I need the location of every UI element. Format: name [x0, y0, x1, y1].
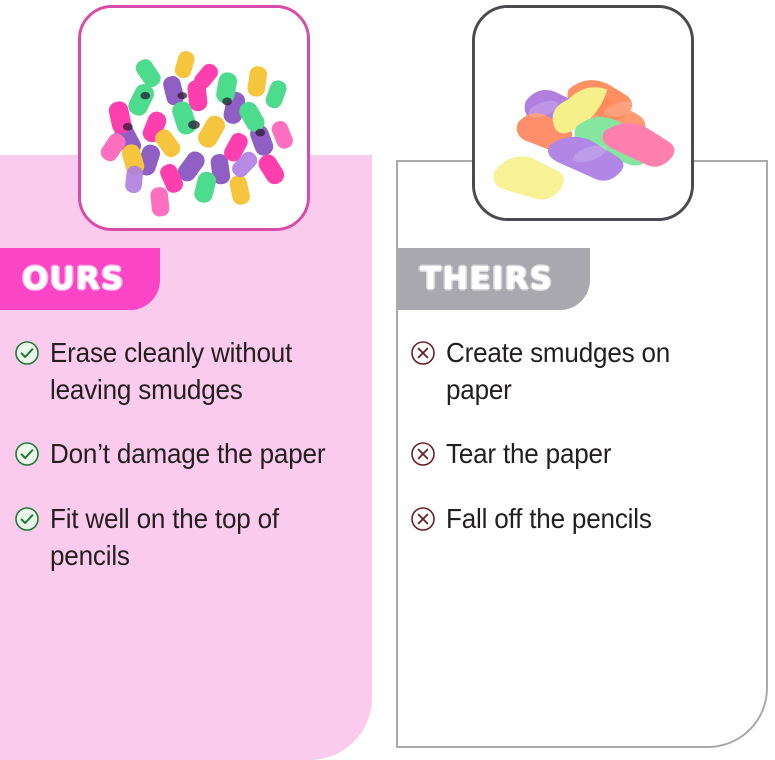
- check-circle-icon: [14, 506, 40, 532]
- ours-product-photo: [81, 8, 307, 228]
- list-item-label: Fit well on the top of pencils: [50, 500, 279, 574]
- ours-product-photo-frame: pile of small multicolored pencil cap er…: [78, 5, 310, 231]
- theirs-product-photo-frame: few large pastel cap erasers: [472, 5, 694, 221]
- cross-circle-icon: [410, 340, 436, 366]
- list-item-label: Erase cleanly without leaving smudges: [50, 334, 292, 408]
- list-item-label: Create smudges on paper: [446, 334, 670, 408]
- list-item: Tear the paper: [410, 435, 762, 472]
- cross-circle-icon: [410, 506, 436, 532]
- list-item-label: Tear the paper: [446, 435, 611, 472]
- theirs-banner: THEIRS: [398, 248, 590, 310]
- list-item-label: Don’t damage the paper: [50, 435, 325, 472]
- list-item: Erase cleanly without leaving smudges: [14, 334, 370, 408]
- theirs-banner-label: THEIRS: [398, 264, 553, 295]
- list-item: Fit well on the top of pencils: [14, 500, 370, 574]
- ours-feature-list: Erase cleanly without leaving smudges Do…: [14, 334, 370, 601]
- ours-banner: OURS: [0, 248, 160, 310]
- check-circle-icon: [14, 441, 40, 467]
- list-item: Create smudges on paper: [410, 334, 762, 408]
- ours-photo-alt: pile of small multicolored pencil cap er…: [81, 8, 82, 9]
- theirs-product-photo: [475, 8, 691, 218]
- theirs-photo-alt: few large pastel cap erasers: [475, 8, 476, 9]
- list-item: Fall off the pencils: [410, 500, 762, 537]
- list-item-label: Fall off the pencils: [446, 500, 652, 537]
- ours-banner-label: OURS: [0, 264, 125, 295]
- check-circle-icon: [14, 340, 40, 366]
- theirs-feature-list: Create smudges on paper Tear the paper F…: [410, 334, 762, 564]
- cross-circle-icon: [410, 441, 436, 467]
- list-item: Don’t damage the paper: [14, 435, 370, 472]
